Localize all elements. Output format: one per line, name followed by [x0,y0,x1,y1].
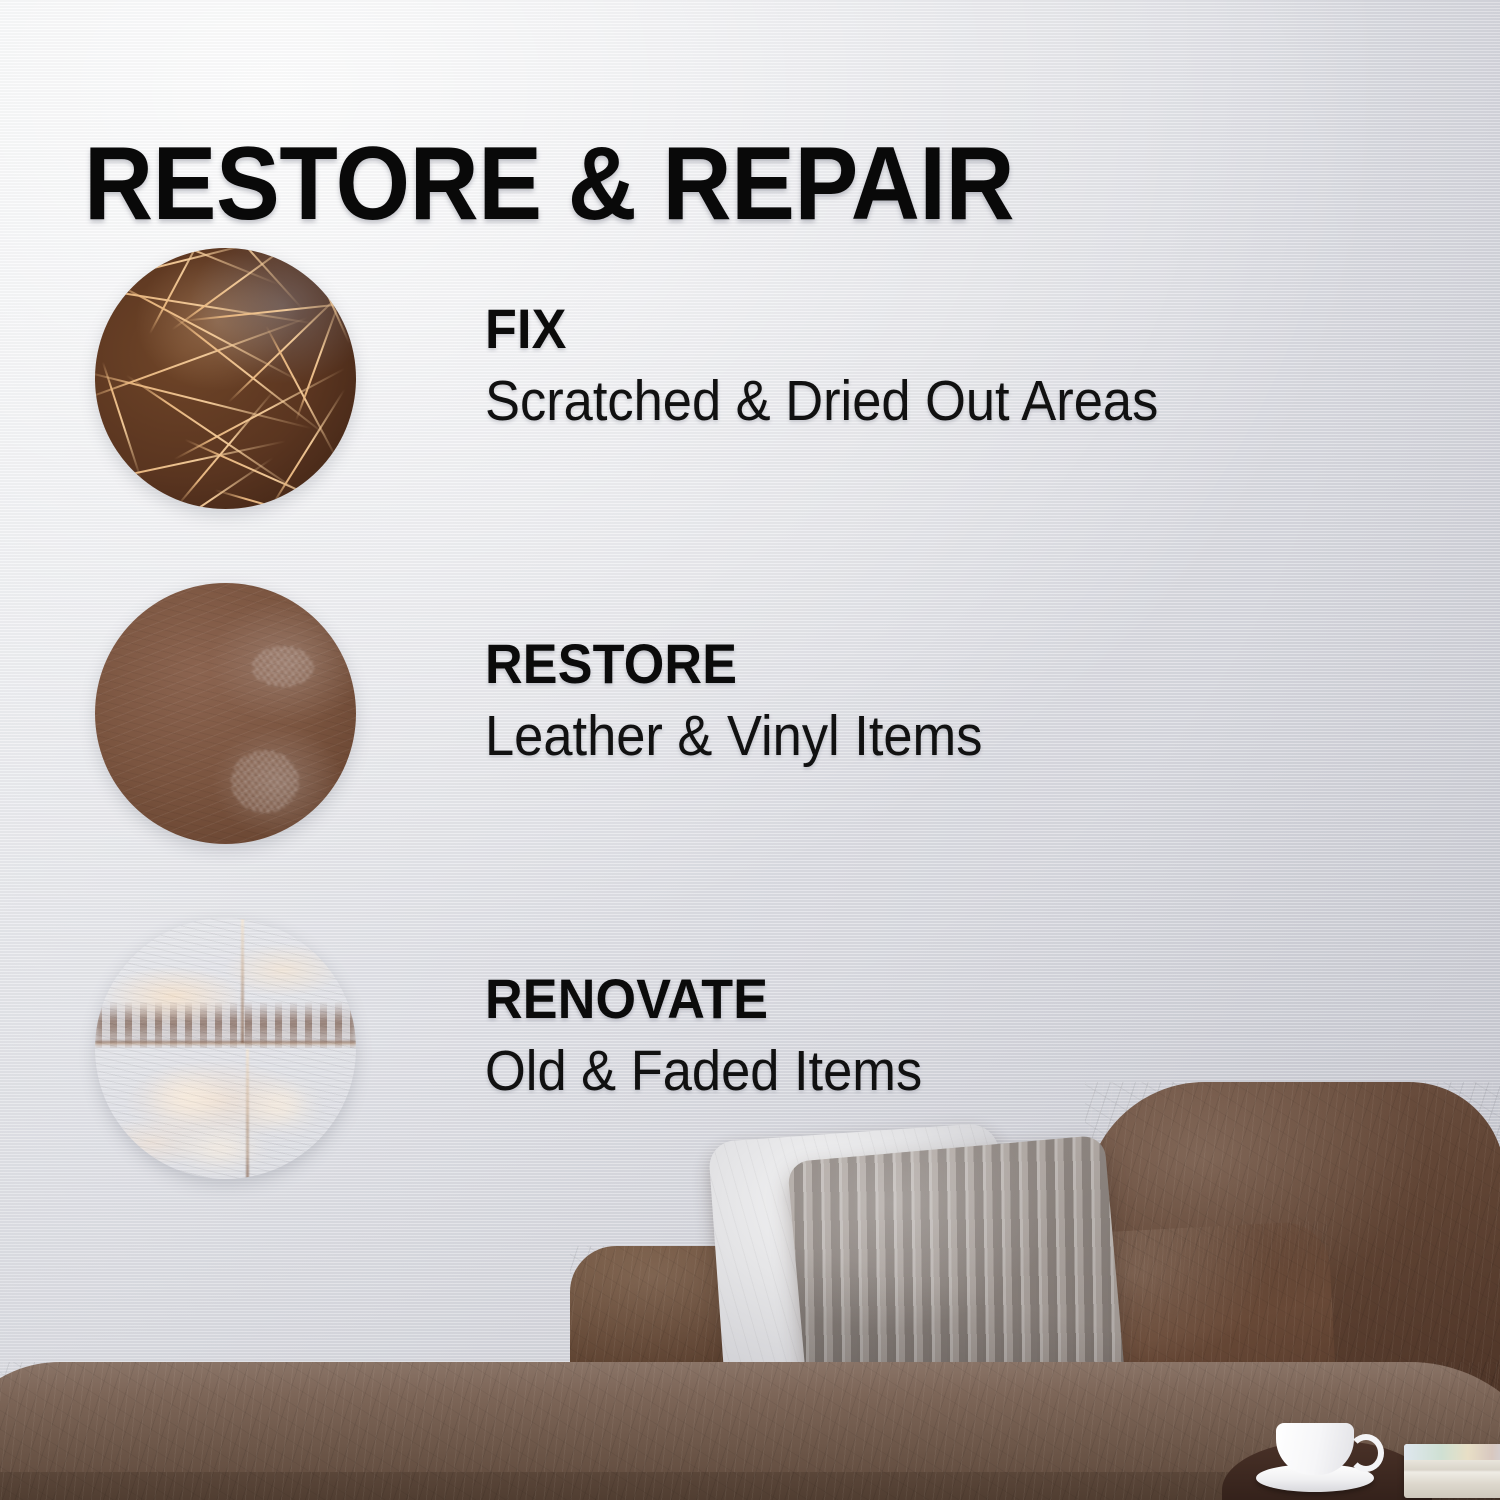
promo-banner: RESTORE & REPAIR [0,0,1500,1500]
sofa-scene [0,1040,1500,1500]
book-cover [1404,1444,1500,1460]
feature-text-fix: FIX Scratched & Dried Out Areas [485,300,1217,432]
feature-kicker: RESTORE [485,635,988,693]
cup-handle [1348,1434,1384,1472]
feature-text-restore: RESTORE Leather & Vinyl Items [485,635,1026,767]
leather-scratched-texture [95,248,356,509]
thumbnail-worn-leather [95,583,356,844]
page-title: RESTORE & REPAIR [84,132,1014,236]
feature-description: Leather & Vinyl Items [485,705,982,767]
leather-crackle-patch-bottom [231,750,299,813]
leather-grain [95,583,356,844]
leather-crackle-patch-top [252,646,315,688]
leather-smooth-texture [95,583,356,844]
feature-description: Scratched & Dried Out Areas [485,370,1158,432]
thumbnail-scratched-leather [95,248,356,509]
scratch-lines [95,248,356,509]
stacked-books [1404,1444,1500,1498]
feature-kicker: RENOVATE [485,970,927,1028]
feature-kicker: FIX [485,300,1166,358]
